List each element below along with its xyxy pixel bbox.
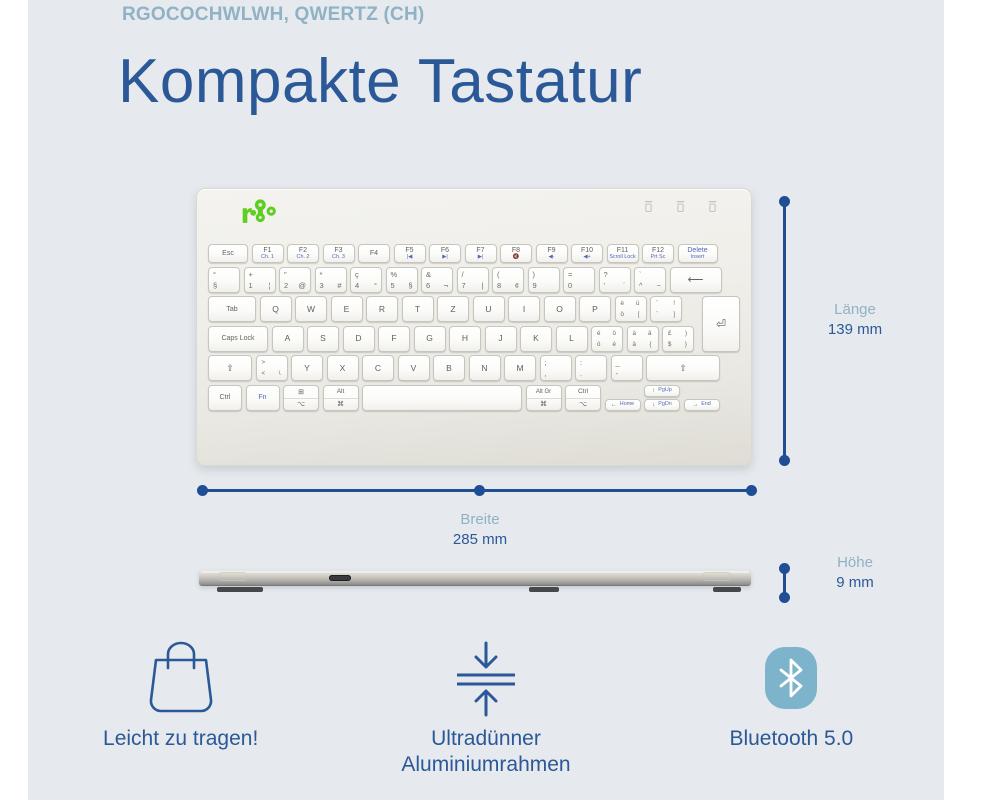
key-windows-option[interactable]: ⊞⌥ (283, 385, 319, 411)
bluetooth-icon (765, 636, 817, 720)
key-adiaeresis[interactable]: àää{ (627, 326, 659, 352)
key-j[interactable]: J (485, 326, 517, 352)
infographic-root: RGOCOCHWLWH, QWERTZ (CH) Kompakte Tastat… (0, 0, 1000, 800)
key-esc[interactable]: Esc (208, 244, 248, 263)
feature-portable: Leicht zu tragen! (28, 636, 333, 800)
key-ctrl-left[interactable]: Ctrl (208, 385, 242, 411)
feature-bluetooth-label: Bluetooth 5.0 (729, 726, 853, 752)
bluetooth-badge (765, 647, 817, 709)
key-tab[interactable]: Tab (208, 296, 256, 322)
key-f5[interactable]: F5|◀ (394, 244, 426, 263)
key-row-function: Esc F1Ch. 1 F2Ch. 2 F3Ch. 3 F4 F5|◀ F6▶|… (208, 244, 740, 263)
key-f11[interactable]: F11Scroll Lock (607, 244, 639, 263)
key-space[interactable] (362, 385, 522, 411)
key-v[interactable]: V (398, 355, 430, 381)
r-go-logo (241, 199, 283, 225)
key-circumflex[interactable]: `^~ (634, 267, 666, 293)
key-caps-lock[interactable]: Caps Lock (208, 326, 268, 352)
key-shift-right[interactable]: ⇧ (646, 355, 720, 381)
key-r[interactable]: R (366, 296, 398, 322)
usb-c-port-icon (329, 575, 351, 581)
arrow-key-cluster: ←Home ↑PgUp ↓PgDn →End (605, 385, 720, 411)
feature-ultrathin: Ultradünner Aluminiumrahmen (333, 636, 638, 800)
key-odiaeresis[interactable]: éööé (591, 326, 623, 352)
shopping-bag-icon (142, 636, 220, 720)
key-row-shift: ⇧ ><\ Y X C V B N M ;, :. _- ⇧ (208, 355, 740, 381)
key-f10[interactable]: F10◀+ (571, 244, 603, 263)
breite-label-group: Breite 285 mm (420, 510, 540, 551)
key-arrow-down[interactable]: ↓PgDn (644, 399, 680, 411)
key-c[interactable]: C (362, 355, 394, 381)
key-delete-insert[interactable]: DeleteInsert (678, 244, 718, 263)
key-diaeresis[interactable]: ¨!¨] (650, 296, 682, 322)
laenge-label-group: Länge 139 mm (800, 300, 910, 341)
breite-dot-right (746, 485, 757, 496)
num-lock-led-icon (676, 201, 685, 213)
key-9[interactable]: )9 (528, 267, 560, 293)
key-1[interactable]: +1¦ (244, 267, 276, 293)
key-f1[interactable]: F1Ch. 1 (252, 244, 284, 263)
key-5[interactable]: %5§ (386, 267, 418, 293)
key-udiaeresis[interactable]: èüö[ (615, 296, 647, 322)
key-z[interactable]: Z (437, 296, 469, 322)
laenge-line (783, 201, 786, 459)
key-i[interactable]: I (508, 296, 540, 322)
key-8[interactable]: (8¢ (492, 267, 524, 293)
key-2[interactable]: "2@ (279, 267, 311, 293)
key-row-qwertz: Tab Q W E R T Z U I O P èüö[ ¨!¨] (208, 296, 740, 322)
key-h[interactable]: H (449, 326, 481, 352)
rubber-foot-right (713, 587, 741, 592)
product-code-eyebrow: RGOCOCHWLWH, QWERTZ (CH) (122, 4, 424, 26)
key-4[interactable]: ç4° (350, 267, 382, 293)
key-f6[interactable]: F6▶| (429, 244, 461, 263)
key-less-greater[interactable]: ><\ (256, 355, 288, 381)
key-l[interactable]: L (556, 326, 588, 352)
hoehe-dot-bottom (779, 592, 790, 603)
key-s[interactable]: S (307, 326, 339, 352)
key-7[interactable]: /7| (457, 267, 489, 293)
keyboard-top-view: Esc F1Ch. 1 F2Ch. 2 F3Ch. 3 F4 F5|◀ F6▶|… (196, 188, 752, 466)
key-f12[interactable]: F12Prt Sc (642, 244, 674, 263)
side-notch-right (703, 572, 731, 581)
key-y[interactable]: Y (291, 355, 323, 381)
page-title: Kompakte Tastatur (118, 46, 642, 117)
key-k[interactable]: K (520, 326, 552, 352)
key-matrix: Esc F1Ch. 1 F2Ch. 2 F3Ch. 3 F4 F5|◀ F6▶|… (208, 244, 740, 456)
key-row-numbers: °§ +1¦ "2@ *3# ç4° %5§ &6¬ /7| (8¢ )9 =0… (208, 267, 740, 293)
key-ctrl-right[interactable]: Ctrl⌥ (565, 385, 601, 411)
key-paragraph[interactable]: °§ (208, 267, 240, 293)
rubber-foot-left (217, 587, 263, 592)
key-u[interactable]: U (473, 296, 505, 322)
key-rows-qwertz-home: Tab Q W E R T Z U I O P èüö[ ¨!¨] Caps L… (208, 296, 740, 352)
key-f8[interactable]: F8🔇 (500, 244, 532, 263)
side-top-highlight (201, 571, 749, 573)
laenge-dot-bottom (779, 455, 790, 466)
key-fn[interactable]: Fn (246, 385, 280, 411)
key-w[interactable]: W (295, 296, 327, 322)
key-n[interactable]: N (469, 355, 501, 381)
key-f4[interactable]: F4 (358, 244, 390, 263)
keyboard-side-view (199, 566, 751, 592)
arrow-updown-column: ↑PgUp ↓PgDn (644, 385, 680, 411)
side-profile-body (199, 570, 751, 586)
key-altgr-command[interactable]: Alt Gr⌘ (526, 385, 562, 411)
key-apostrophe[interactable]: ?'´ (599, 267, 631, 293)
feature-portable-label: Leicht zu tragen! (103, 726, 258, 752)
key-arrow-right[interactable]: →End (684, 399, 720, 411)
hoehe-label-group: Höhe 9 mm (800, 553, 910, 594)
key-t[interactable]: T (402, 296, 434, 322)
key-3[interactable]: *3# (315, 267, 347, 293)
key-x[interactable]: X (327, 355, 359, 381)
breite-dot-center (474, 485, 485, 496)
key-row-modifiers: Ctrl Fn ⊞⌥ Alt⌘ Alt Gr⌘ Ctrl⌥ ←Home ↑PgU… (208, 385, 740, 411)
key-f9[interactable]: F9◀- (536, 244, 568, 263)
key-d[interactable]: D (343, 326, 375, 352)
key-a[interactable]: A (272, 326, 304, 352)
key-f[interactable]: F (378, 326, 410, 352)
key-period[interactable]: :. (575, 355, 607, 381)
key-m[interactable]: M (504, 355, 536, 381)
key-e[interactable]: E (331, 296, 363, 322)
status-led-group (644, 201, 717, 213)
key-enter[interactable]: ⏎ (702, 296, 740, 352)
key-arrow-up[interactable]: ↑PgUp (644, 385, 680, 397)
feature-ultrathin-label: Ultradünner Aluminiumrahmen (401, 726, 570, 779)
feature-bluetooth: Bluetooth 5.0 (639, 636, 944, 800)
key-row-home: Caps Lock A S D F G H J K L éööé àää{ £)… (208, 326, 740, 352)
key-arrow-left[interactable]: ←Home (605, 399, 641, 411)
key-comma[interactable]: ;, (540, 355, 572, 381)
side-notch-left (219, 572, 247, 581)
key-g[interactable]: G (414, 326, 446, 352)
key-minus[interactable]: _- (611, 355, 643, 381)
caps-lock-led-icon (644, 201, 653, 213)
battery-led-icon (708, 201, 717, 213)
key-shift-left[interactable]: ⇧ (208, 355, 252, 381)
key-dollar[interactable]: £)$} (662, 326, 694, 352)
key-f2[interactable]: F2Ch. 2 (287, 244, 319, 263)
key-f3[interactable]: F3Ch. 3 (323, 244, 355, 263)
key-alt-command[interactable]: Alt⌘ (323, 385, 359, 411)
rubber-foot-center (529, 587, 559, 592)
key-p[interactable]: P (579, 296, 611, 322)
key-0[interactable]: =0 (563, 267, 595, 293)
key-f7[interactable]: F7▶| (465, 244, 497, 263)
key-q[interactable]: Q (260, 296, 292, 322)
key-b[interactable]: B (433, 355, 465, 381)
key-o[interactable]: O (544, 296, 576, 322)
ultra-thin-icon (445, 636, 527, 720)
key-backspace[interactable]: ⟵ (670, 267, 722, 293)
feature-row: Leicht zu tragen! Ultradünner Aluminiumr… (28, 636, 944, 800)
key-6[interactable]: &6¬ (421, 267, 453, 293)
